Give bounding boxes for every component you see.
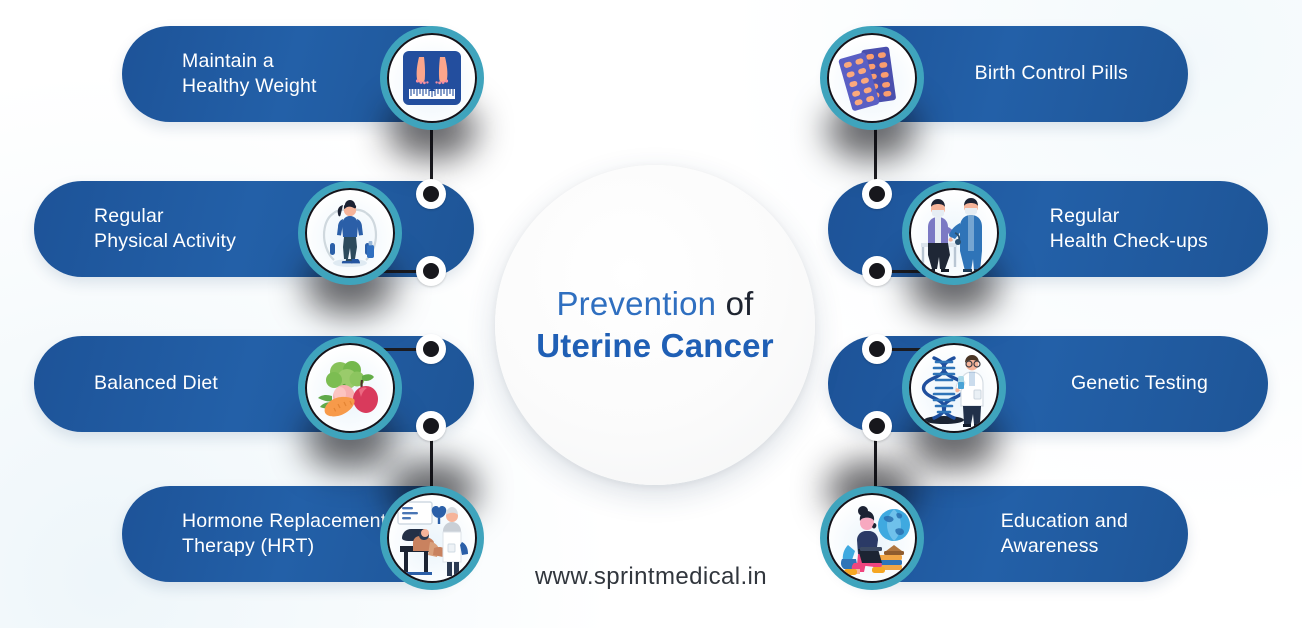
item-label: Regular Health Check-ups xyxy=(1050,204,1208,255)
connector-node-left-1 xyxy=(416,179,446,209)
center-title-circle: Prevention of Uterine Cancer xyxy=(495,165,815,485)
icon-inner xyxy=(387,33,477,123)
connector-node-right-3 xyxy=(862,334,892,364)
center-title-main: Prevention xyxy=(556,285,716,322)
icon-inner xyxy=(909,188,999,278)
item-label: Birth Control Pills xyxy=(975,61,1128,86)
connector-node-left-4 xyxy=(416,411,446,441)
icon-inner xyxy=(827,33,917,123)
item-bar-regular-physical-activity[interactable]: Regular Physical Activity xyxy=(34,181,474,277)
item-label: Regular Physical Activity xyxy=(94,204,236,255)
item-label: Balanced Diet xyxy=(94,371,218,396)
item-label: Maintain a Healthy Weight xyxy=(182,49,317,100)
icon-inner xyxy=(305,188,395,278)
weight-scale-icon[interactable] xyxy=(380,26,484,130)
connector-node-right-2 xyxy=(862,256,892,286)
infographic-stage: Maintain a Healthy Weight Regular Physic… xyxy=(0,0,1302,628)
item-label: Education and Awareness xyxy=(1001,509,1128,560)
fruits-vegetables-icon[interactable] xyxy=(298,336,402,440)
jump-rope-exercise-icon[interactable] xyxy=(298,181,402,285)
connector-node-left-3 xyxy=(416,334,446,364)
icon-inner xyxy=(305,343,395,433)
item-label: Genetic Testing xyxy=(1071,371,1208,396)
connector-node-left-2 xyxy=(416,256,446,286)
center-title-line2: Uterine Cancer xyxy=(536,327,774,365)
center-title-suffix: of xyxy=(726,285,754,322)
icon-inner xyxy=(909,343,999,433)
item-label: Hormone Replacement Therapy (HRT) xyxy=(182,509,386,560)
dna-scientist-icon[interactable] xyxy=(902,336,1006,440)
connector-node-right-4 xyxy=(862,411,892,441)
item-bar-regular-health-checkups[interactable]: Regular Health Check-ups xyxy=(828,181,1268,277)
doctor-checkup-icon[interactable] xyxy=(902,181,1006,285)
connector-node-right-1 xyxy=(862,179,892,209)
website-footer: www.sprintmedical.in xyxy=(0,563,1302,591)
center-title-line1: Prevention of xyxy=(556,285,753,323)
pill-blister-pack-icon[interactable] xyxy=(820,26,924,130)
